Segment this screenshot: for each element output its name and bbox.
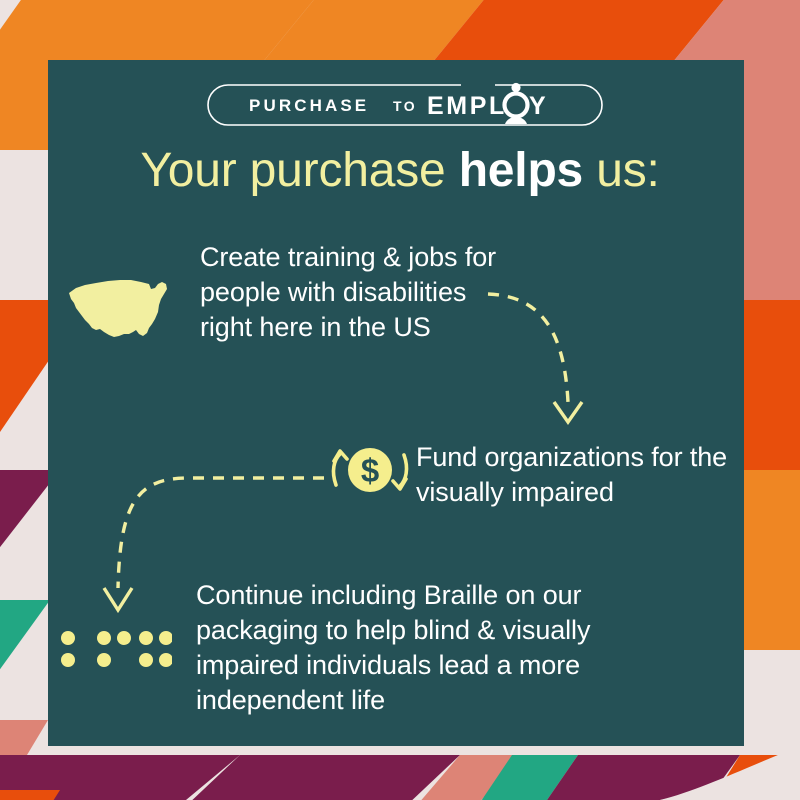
stripe-salmon-right <box>744 90 800 300</box>
poster-canvas: PURCHASE TO EMPL Y Your purchase helps u… <box>0 0 800 800</box>
dollar-sign-glyph: $ <box>361 452 379 489</box>
us-map-icon <box>63 272 175 344</box>
stripe-orangered-right <box>744 300 800 470</box>
stripe-group-right <box>744 90 800 800</box>
badge-text-empl: EMPL <box>427 92 507 120</box>
badge-text-to: TO <box>393 98 417 114</box>
dollar-coin-icon: $ <box>326 441 414 499</box>
brand-badge: PURCHASE TO EMPL Y <box>205 82 605 122</box>
badge-text-purchase-to: PURCHASE <box>249 96 369 115</box>
braille-dots-icon <box>60 630 172 668</box>
headline-part1: Your purchase <box>140 144 458 197</box>
headline-part2: us: <box>583 144 660 197</box>
stripe-orange-bottom-left <box>0 790 60 800</box>
stripe-orange-right <box>744 470 800 650</box>
badge-text-y: Y <box>529 92 548 120</box>
person-figure-o-icon <box>505 83 528 124</box>
point-text-braille-packaging: Continue including Braille on our packag… <box>196 578 646 718</box>
arrow-up-left <box>333 451 347 485</box>
point-text-fund-organizations: Fund organizations for the visually impa… <box>416 440 736 510</box>
headline-emphasis: helps <box>459 144 583 197</box>
arrow-down-right <box>393 455 407 489</box>
page-title: Your purchase helps us: <box>0 147 800 195</box>
point-text-training-jobs: Create training & jobs for people with d… <box>200 240 500 345</box>
